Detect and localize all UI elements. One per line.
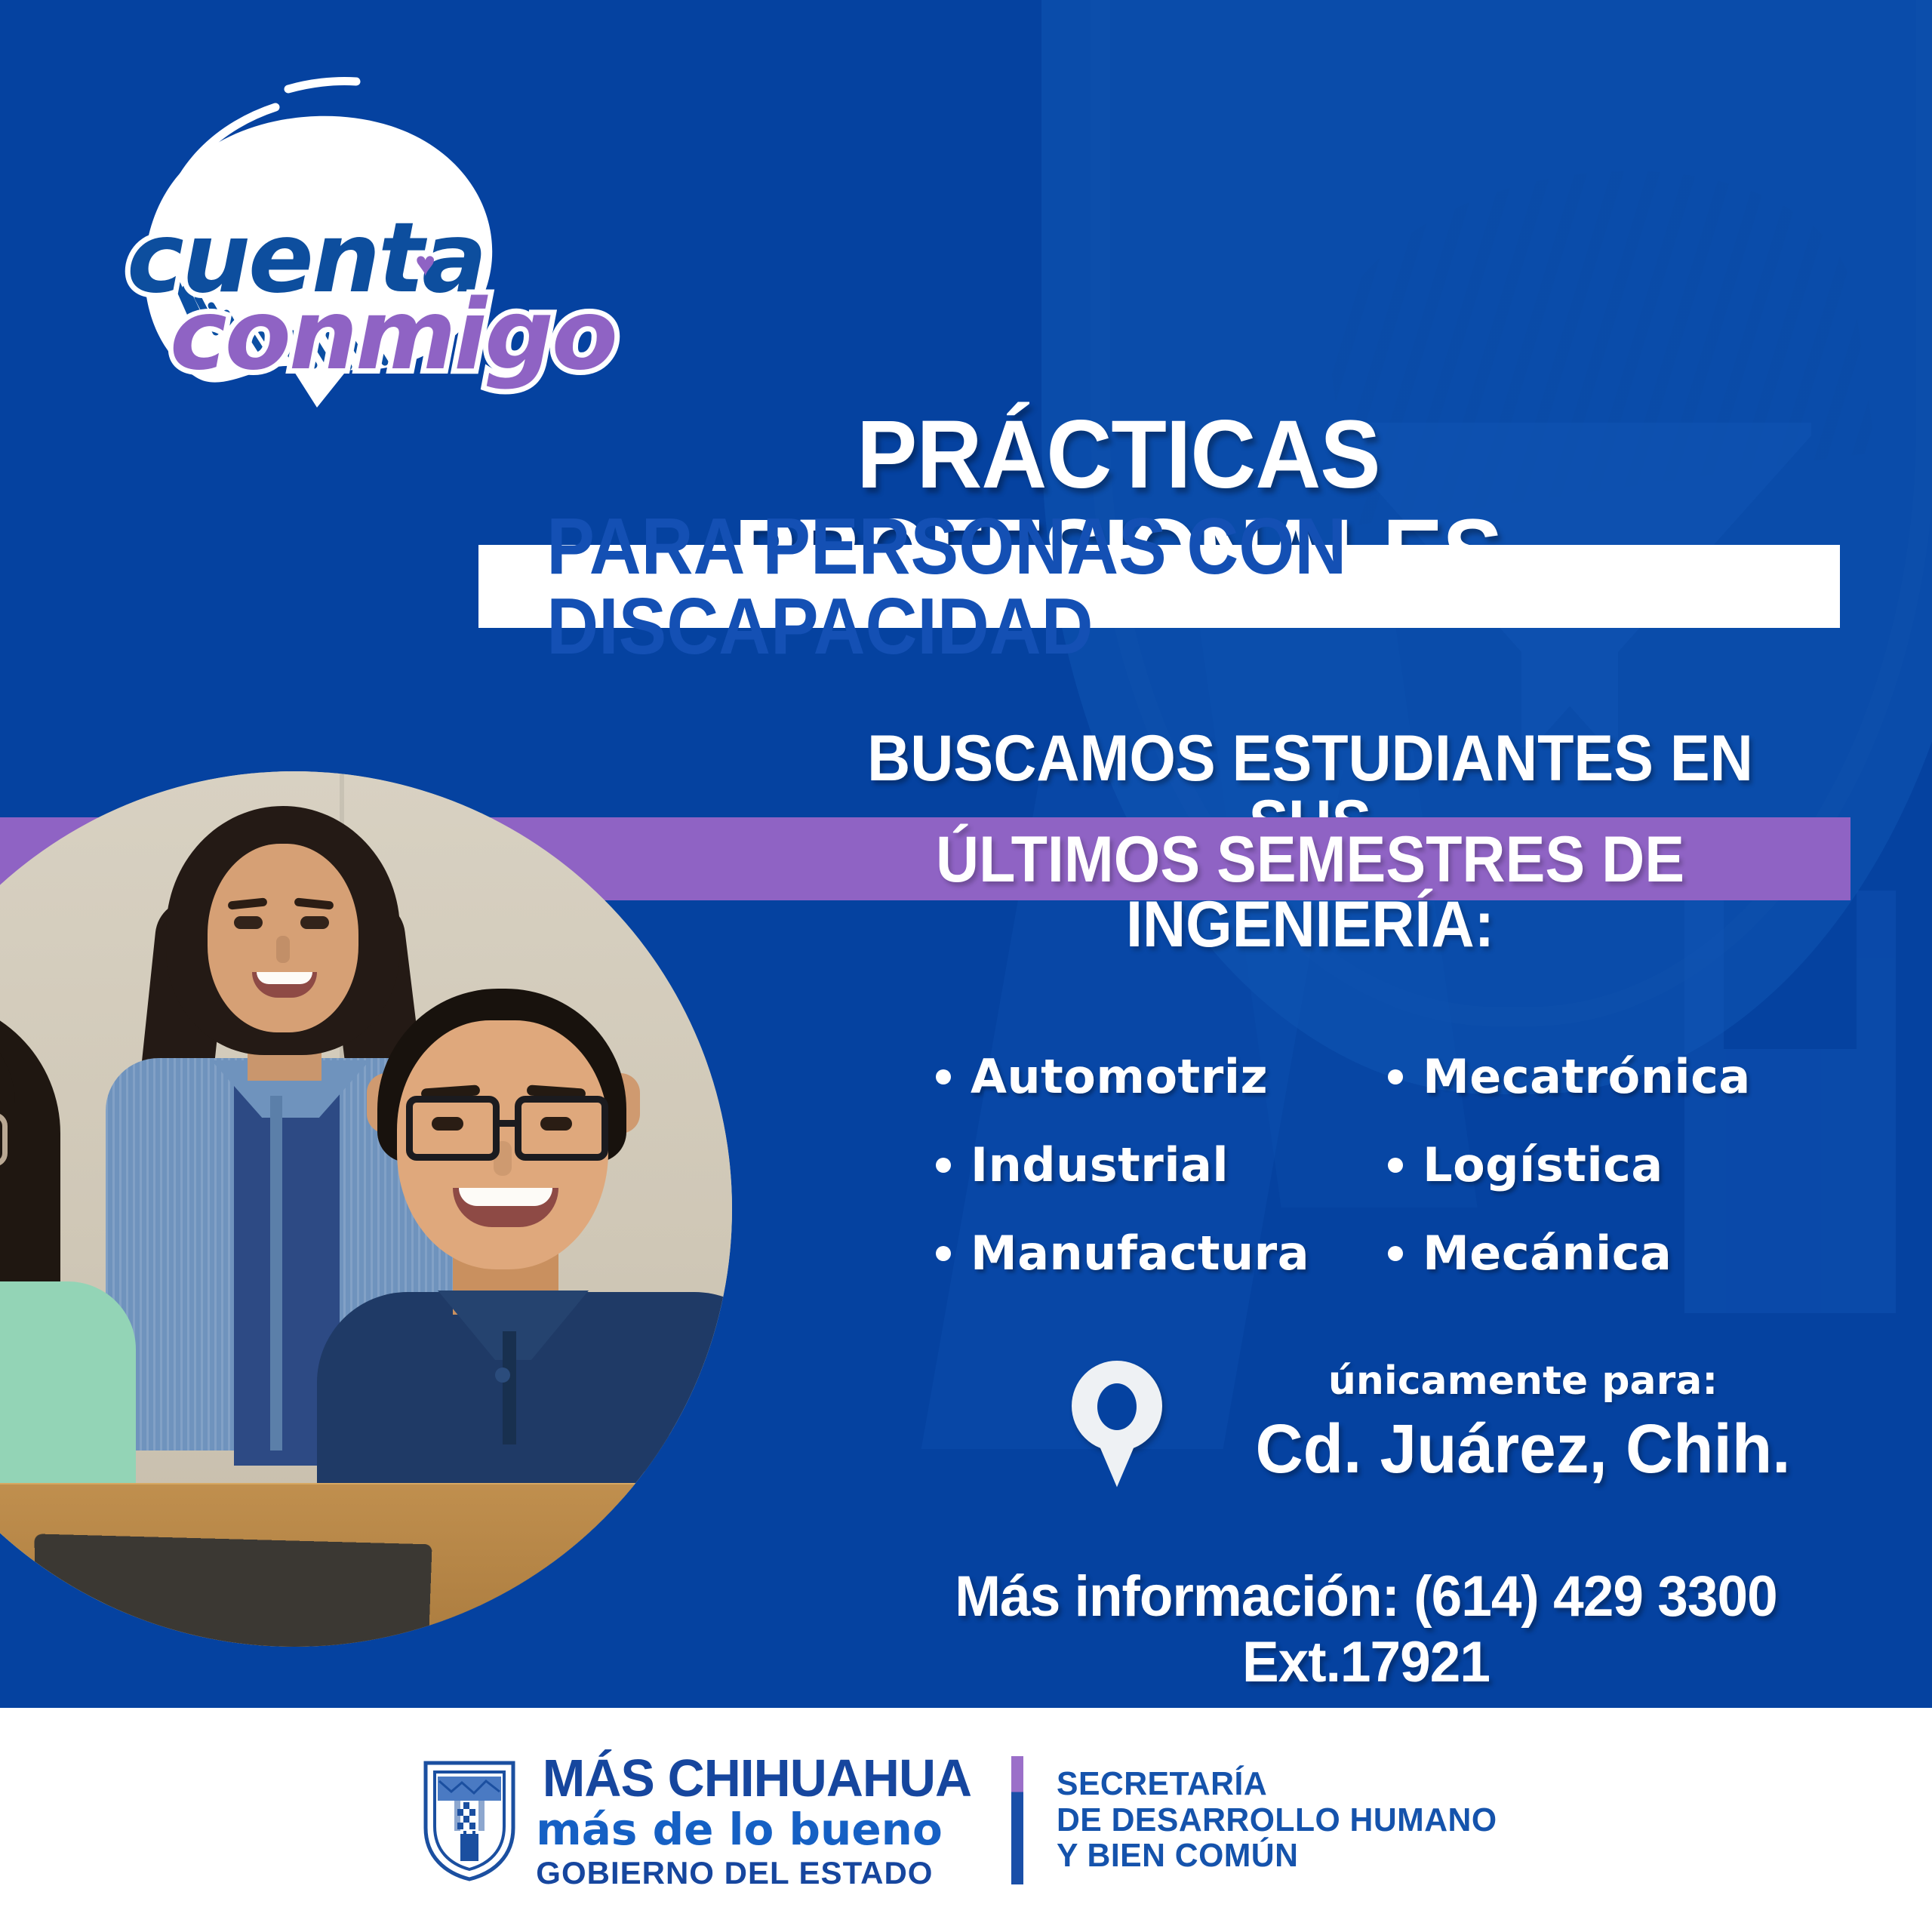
career-label: Logística <box>1423 1137 1663 1192</box>
location-block: únicamente para: Cd. Juárez, Chih. <box>1072 1358 1857 1489</box>
gov-title: MÁS CHIHUAHUA <box>543 1752 971 1804</box>
secretariat-line2: DE DESARROLLO HUMANO <box>1057 1802 1497 1838</box>
subtitle-line2: ÚLTIMOS SEMESTRES DE INGENIERÍA: <box>813 827 1807 957</box>
secretariat-line1: SECRETARÍA <box>1057 1766 1497 1802</box>
location-city: Cd. Juárez, Chih. <box>1206 1410 1840 1489</box>
cuenta-conmigo-logo: cuenta ♥ conmigo <box>91 53 574 430</box>
contact-info: Más información: (614) 429 3300 Ext.1792… <box>851 1564 1880 1695</box>
government-logo: MÁS CHIHUAHUA más de lo bueno GOBIERNO D… <box>421 1752 978 1889</box>
career-label: Mecatrónica <box>1423 1049 1751 1104</box>
bullet-dot-icon <box>1388 1246 1403 1261</box>
logo-word-conmigo: conmigo <box>170 279 616 392</box>
careers-column-right: Mecatrónica Logística Mecánica <box>1388 1049 1751 1314</box>
careers-list: Automotriz Industrial Manufactura Mecatr… <box>936 1049 1872 1314</box>
page-title-line2-box: PARA PERSONAS CON DISCAPACIDAD <box>478 545 1840 628</box>
page-title-line2: PARA PERSONAS CON DISCAPACIDAD <box>546 506 1772 666</box>
gov-subtitle: GOBIERNO DEL ESTADO <box>536 1857 978 1889</box>
map-pin-icon <box>1072 1361 1162 1487</box>
chihuahua-coat-of-arms-icon <box>421 1758 518 1882</box>
bullet-dot-icon <box>1388 1158 1403 1173</box>
location-label: únicamente para: <box>1189 1358 1857 1404</box>
bullet-dot-icon <box>936 1246 951 1261</box>
list-item: Mecatrónica <box>1388 1049 1751 1104</box>
list-item: Manufactura <box>936 1226 1309 1281</box>
gov-tagline: más de lo bueno <box>536 1807 978 1851</box>
students-photo <box>0 771 732 1647</box>
secretariat-logo: SECRETARÍA DE DESARROLLO HUMANO Y BIEN C… <box>1057 1766 1497 1874</box>
bullet-dot-icon <box>936 1069 951 1084</box>
bullet-dot-icon <box>1388 1069 1403 1084</box>
list-item: Industrial <box>936 1137 1309 1192</box>
list-item: Mecánica <box>1388 1226 1751 1281</box>
footer: MÁS CHIHUAHUA más de lo bueno GOBIERNO D… <box>0 1708 1932 1932</box>
poster: cuenta ♥ conmigo PRÁCTICAS PROFESIONALES… <box>0 0 1932 1932</box>
heart-icon: ♥ <box>415 243 435 284</box>
list-item: Automotriz <box>936 1049 1309 1104</box>
career-label: Automotriz <box>971 1049 1268 1104</box>
bullet-dot-icon <box>936 1158 951 1173</box>
career-label: Manufactura <box>971 1226 1309 1281</box>
careers-column-left: Automotriz Industrial Manufactura <box>936 1049 1309 1314</box>
list-item: Logística <box>1388 1137 1751 1192</box>
career-label: Mecánica <box>1423 1226 1672 1281</box>
career-label: Industrial <box>971 1137 1229 1192</box>
secretariat-line3: Y BIEN COMÚN <box>1057 1838 1497 1874</box>
footer-divider <box>1011 1756 1023 1884</box>
